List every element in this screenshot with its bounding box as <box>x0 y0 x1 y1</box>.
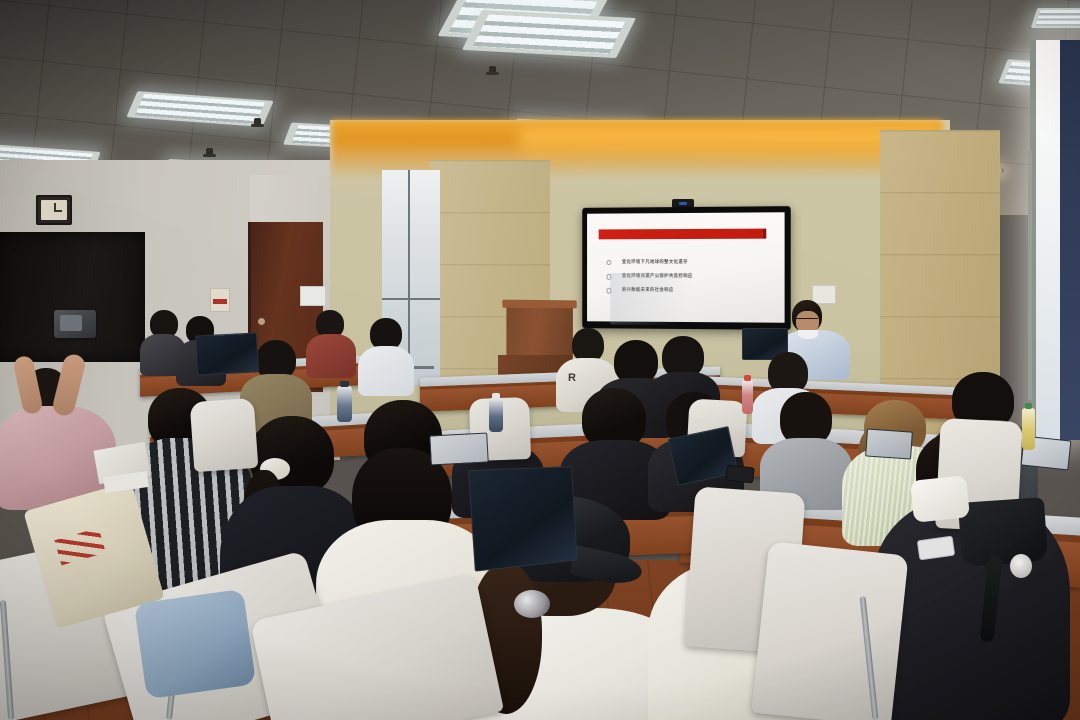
door-nameplate <box>300 286 326 306</box>
lecture-hall-photo: 变化环境下凡地球的整文化遗存 变化环境对遗产公保护共监控响应 新兴数据未来的社会… <box>0 0 1080 720</box>
wall-notice-sign <box>210 288 230 312</box>
handbag[interactable] <box>958 497 1048 567</box>
laptop[interactable] <box>468 466 578 572</box>
white-cloth <box>910 475 970 523</box>
presentation-display[interactable]: 变化环境下凡地球的整文化遗存 变化环境对遗产公保护共监控响应 新兴数据未来的社会… <box>582 206 790 330</box>
torso <box>306 334 356 378</box>
attendee-photographer <box>0 358 110 498</box>
fluorescent-troffer <box>462 10 636 58</box>
screen-glare <box>610 273 718 326</box>
denim-jacket <box>134 589 256 699</box>
tote-print <box>54 528 105 566</box>
cove-light-glow-hot <box>520 128 940 166</box>
laptop[interactable] <box>865 428 913 459</box>
camera-icon <box>54 310 96 338</box>
wall-clock-icon <box>36 195 72 225</box>
laptop[interactable] <box>195 332 259 375</box>
attendee <box>358 318 414 390</box>
bag-charm <box>1010 554 1032 578</box>
smartphone[interactable] <box>725 465 755 484</box>
water-bottle[interactable] <box>1022 408 1035 450</box>
thermos[interactable] <box>489 398 503 432</box>
water-bottle[interactable] <box>742 380 753 414</box>
window-frame-rail <box>1028 150 1032 400</box>
fluorescent-troffer <box>1031 8 1080 28</box>
slide-content: 变化环境下凡地球的整文化遗存 变化环境对遗产公保护共监控响应 新兴数据未来的社会… <box>587 212 785 322</box>
presenter-collar <box>798 330 818 339</box>
chair[interactable] <box>751 541 908 720</box>
thermos[interactable] <box>337 386 352 422</box>
sprinkler-head <box>489 66 496 75</box>
bullet-marker <box>606 260 611 265</box>
laptop[interactable] <box>429 433 488 466</box>
torso <box>358 346 414 396</box>
presenter-glasses-icon <box>796 318 818 323</box>
attendee <box>760 392 852 502</box>
chair[interactable] <box>190 398 259 472</box>
hair-clip <box>514 590 550 618</box>
shirt-graphic: R <box>568 372 577 384</box>
slide-accent-bar <box>599 229 765 240</box>
wall-board <box>0 232 145 362</box>
slide-bullet-1: 变化环境下凡地球的整文化遗存 <box>622 259 688 265</box>
sprinkler-head <box>206 148 213 157</box>
sprinkler-head <box>254 118 261 127</box>
attendee <box>306 310 356 372</box>
